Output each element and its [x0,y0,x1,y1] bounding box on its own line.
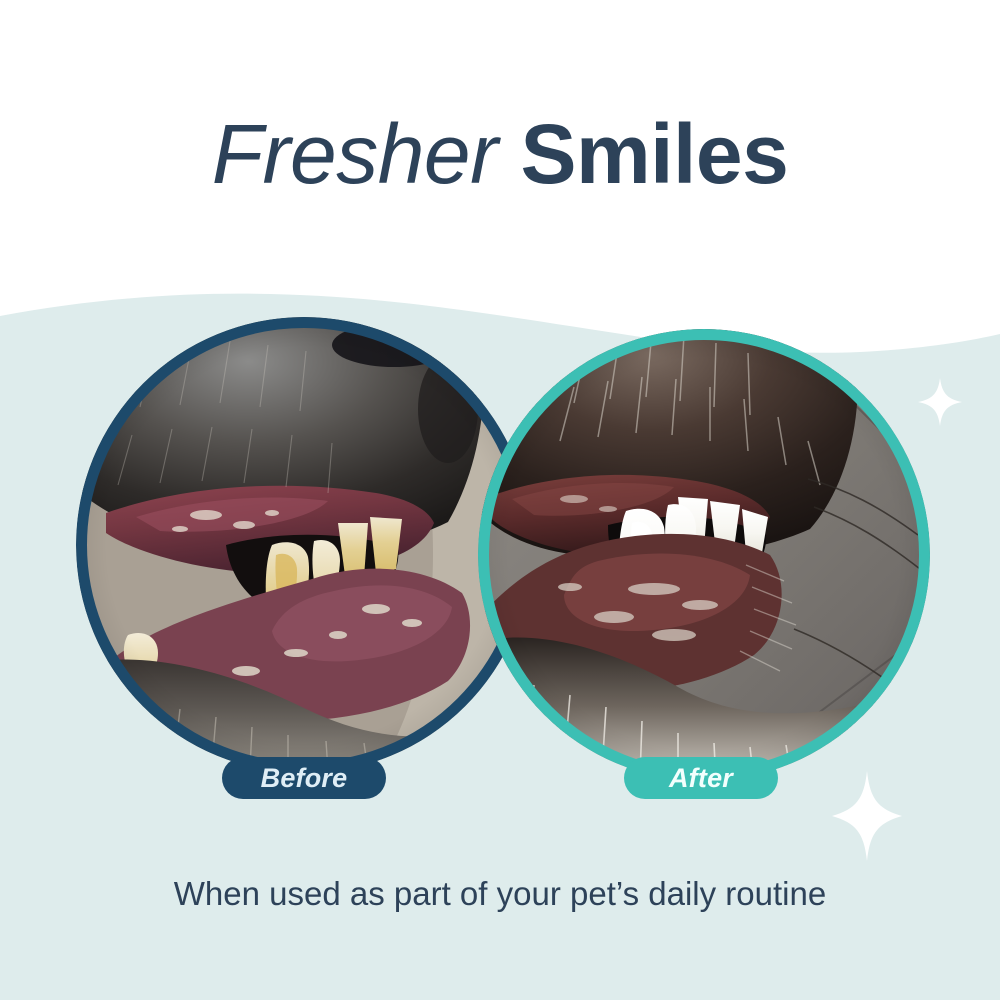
sparkle-large-star-icon [832,771,902,861]
before-label-text: Before [261,763,348,793]
sparkle-small-star-icon [918,378,962,426]
caption-text: When used as part of your pet’s daily ro… [0,872,1000,916]
page-title: Fresher Smiles [0,106,1000,202]
before-photo [76,317,532,773]
page-title-italic: Fresher [212,107,521,201]
after-label-badge: After [624,757,778,799]
after-photo-circle [478,329,930,781]
after-label-text: After [669,763,733,793]
before-label-badge: Before [222,757,386,799]
promo-graphic: Fresher Smiles [0,0,1000,1000]
before-photo-circle [76,317,532,773]
page-title-bold: Smiles [520,107,788,201]
after-photo [478,329,930,781]
